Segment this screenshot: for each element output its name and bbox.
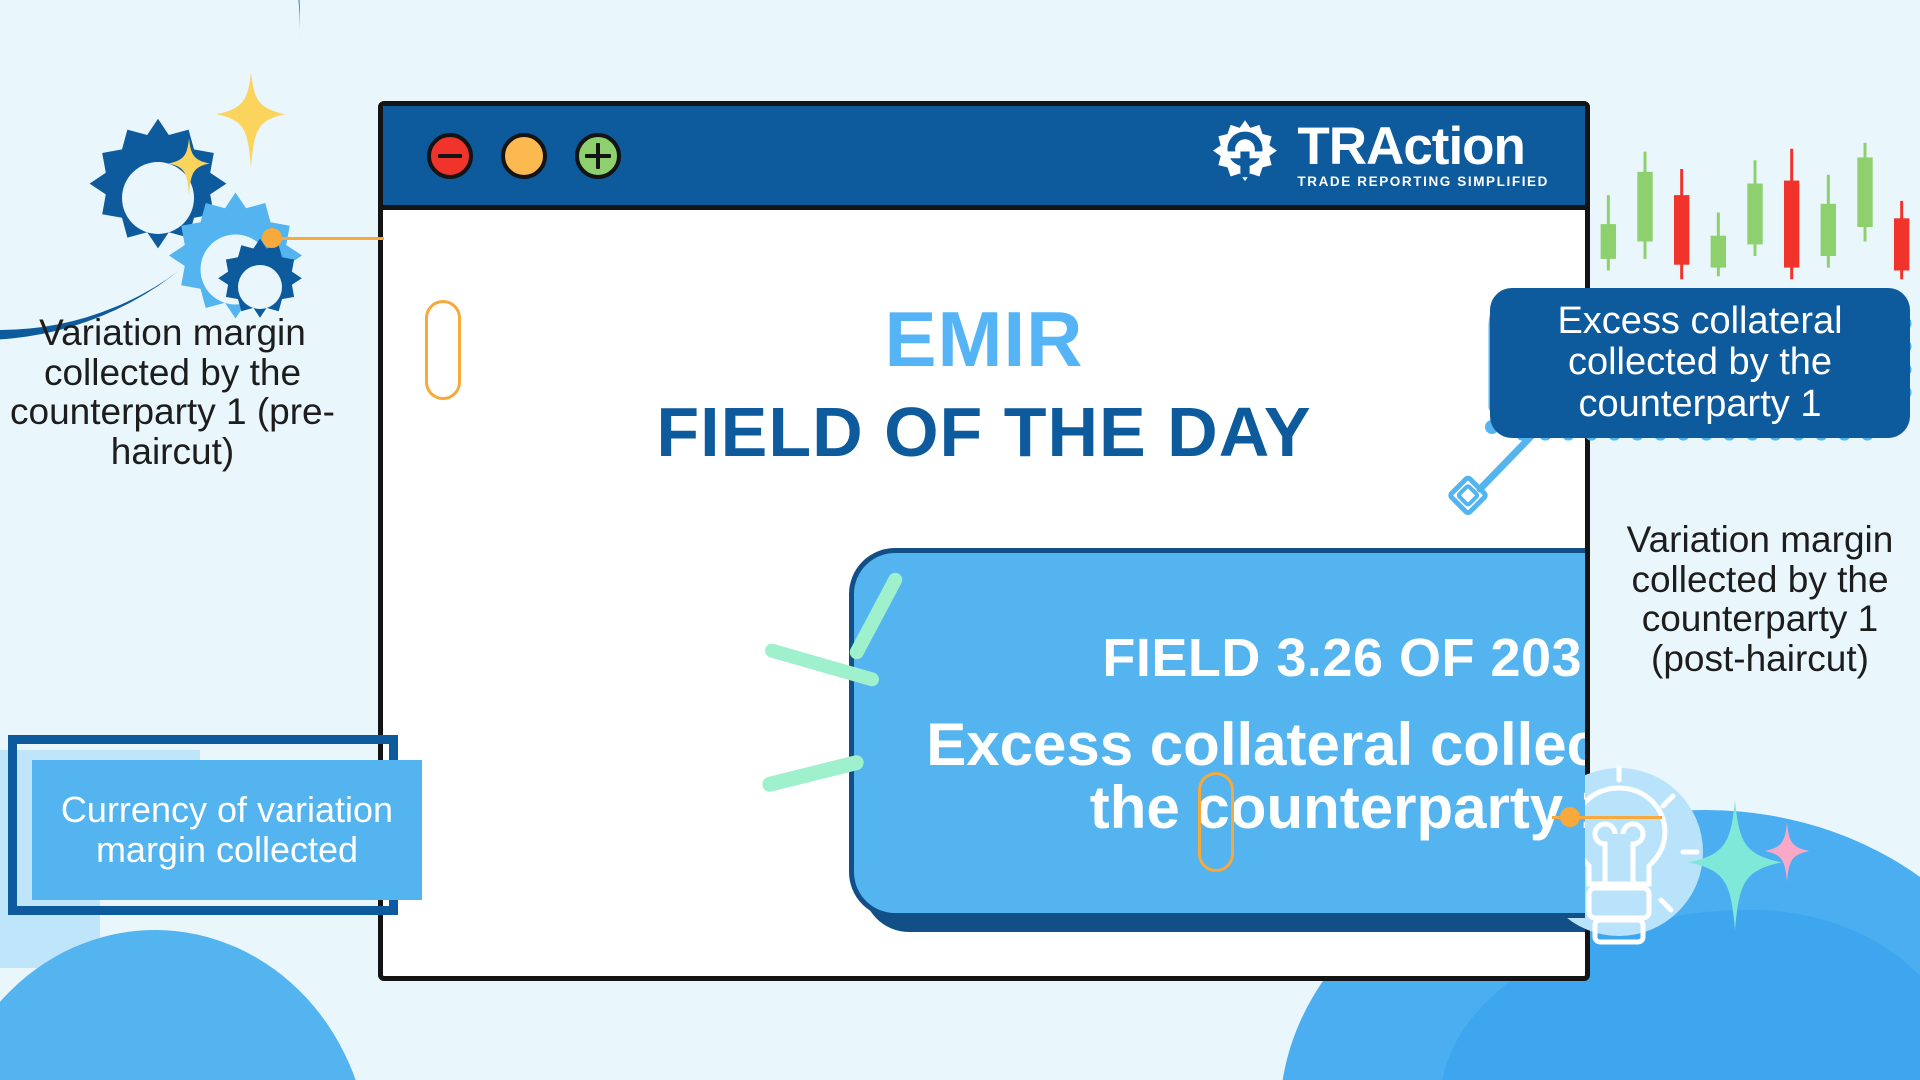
candlestick-chart [1590, 140, 1920, 285]
traction-logo-text: TRAction TRADE REPORTING SIMPLIFIED [1297, 122, 1549, 189]
connector-dot-left [262, 228, 282, 248]
gear-logo-icon [1207, 118, 1283, 194]
expand-button[interactable] [575, 133, 621, 179]
orange-pill-bottom-right [1198, 772, 1234, 872]
field-number-label: FIELD 3.26 OF 203: [1102, 627, 1590, 689]
logo-tagline: TRADE REPORTING SIMPLIFIED [1297, 174, 1549, 189]
annotation-currency-label: Currency of variation margin collected [32, 790, 422, 869]
annotation-left-top: Variation margin collected by the counte… [0, 313, 345, 471]
sparkle-star-small-icon [166, 138, 212, 201]
connector-line-left [266, 237, 384, 240]
minimize-button[interactable] [427, 133, 473, 179]
sparkle-star-large-icon [212, 72, 290, 173]
maximize-button[interactable] [501, 133, 547, 179]
annotation-tooltip-text: Excess collateral collected by the count… [1490, 301, 1910, 424]
window-content: EMIR FIELD OF THE DAY FIELD 3.26 OF 203:… [383, 210, 1585, 981]
window-controls [427, 133, 621, 179]
sparkle-pink-icon [1762, 820, 1812, 882]
tooltip-right: Excess collateral collected by the count… [1490, 288, 1910, 438]
page-subtitle: FIELD OF THE DAY [383, 392, 1585, 472]
regulation-title: EMIR [383, 294, 1585, 385]
annotation-right-text: Variation margin collected by the counte… [1600, 520, 1920, 678]
window-titlebar: TRAction TRADE REPORTING SIMPLIFIED [383, 106, 1585, 210]
browser-window: TRAction TRADE REPORTING SIMPLIFIED EMIR… [378, 101, 1590, 981]
currency-box: Currency of variation margin collected [32, 760, 422, 900]
orange-pill-top-left [425, 300, 461, 400]
connector-dot-right [1560, 807, 1580, 827]
logo-wordmark: TRAction [1297, 122, 1525, 172]
traction-logo: TRAction TRADE REPORTING SIMPLIFIED [1207, 118, 1559, 194]
